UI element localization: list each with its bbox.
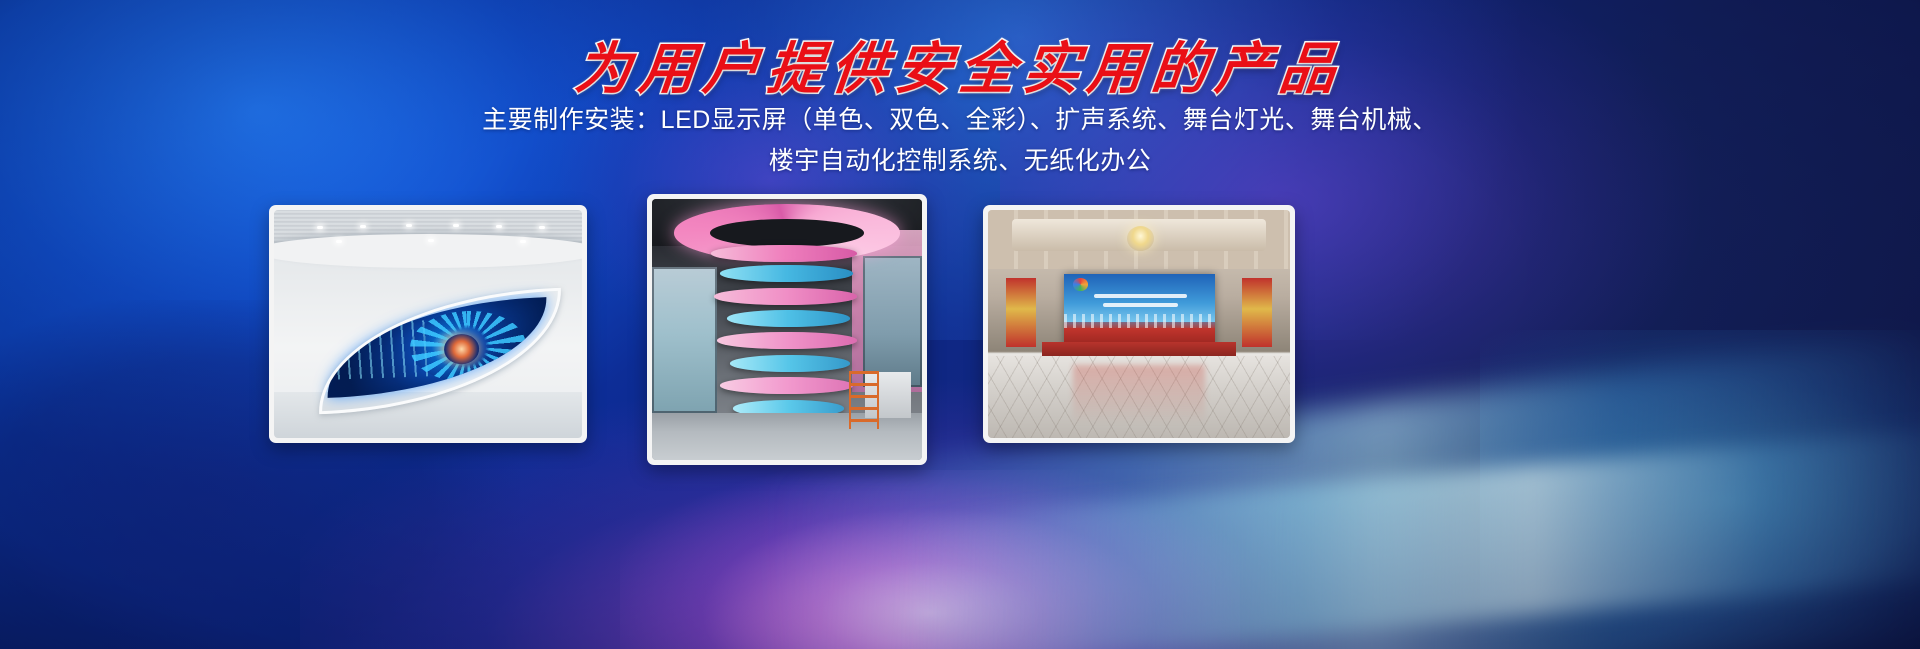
ceiling-light bbox=[428, 239, 434, 242]
subtitle-line-2: 楼宇自动化控制系统、无纸化办公 bbox=[0, 141, 1920, 182]
atrium-window-right bbox=[863, 256, 922, 387]
chandelier bbox=[1127, 226, 1154, 251]
side-led-panel-right bbox=[1242, 278, 1272, 346]
photo-spiral-ribbon-led-screen-atrium[interactable] bbox=[647, 194, 927, 465]
ceiling-light bbox=[539, 226, 545, 229]
ceiling-light bbox=[360, 225, 366, 228]
promo-banner: 为用户提供安全实用的产品 主要制作安装：LED显示屏（单色、双色、全彩）、扩声系… bbox=[0, 0, 1920, 649]
ceiling-light bbox=[496, 225, 502, 228]
spiral-band bbox=[730, 355, 851, 372]
photo-eye-shaped-led-screen-lobby[interactable] bbox=[269, 205, 587, 443]
banner-subtitle: 主要制作安装：LED显示屏（单色、双色、全彩）、扩声系统、舞台灯光、舞台机械、 … bbox=[0, 100, 1920, 182]
screen-text-line bbox=[1094, 294, 1188, 298]
spiral-band bbox=[720, 377, 853, 394]
main-led-stage-screen bbox=[1064, 274, 1215, 352]
ceiling-light bbox=[520, 240, 526, 243]
screen-company-logo bbox=[1073, 278, 1088, 290]
ceiling-light bbox=[317, 226, 323, 229]
photo-3-image bbox=[988, 210, 1290, 438]
atrium-floor bbox=[652, 413, 922, 460]
spiral-band bbox=[714, 288, 856, 305]
banner-headline: 为用户提供安全实用的产品 bbox=[572, 24, 1349, 105]
floor-reflection bbox=[1073, 365, 1206, 424]
spiral-band bbox=[717, 332, 856, 349]
ceiling-light bbox=[453, 224, 459, 227]
photo-1-image bbox=[274, 210, 582, 438]
headline-container: 为用户提供安全实用的产品 bbox=[0, 24, 1920, 105]
step-ladder bbox=[849, 371, 879, 429]
photo-2-image bbox=[652, 199, 922, 460]
spiral-band bbox=[727, 310, 851, 327]
atrium-window-left bbox=[652, 267, 717, 413]
ceiling-light bbox=[406, 224, 412, 227]
spiral-band bbox=[720, 265, 853, 282]
photo-banquet-hall-led-stage-screen[interactable] bbox=[983, 205, 1295, 443]
ceiling-light bbox=[336, 240, 342, 243]
subtitle-line-1: 主要制作安装：LED显示屏（单色、双色、全彩）、扩声系统、舞台灯光、舞台机械、 bbox=[0, 100, 1920, 141]
side-led-panel-left bbox=[1006, 278, 1036, 346]
spiral-band bbox=[711, 245, 856, 262]
screen-skyline-graphic bbox=[1064, 314, 1215, 328]
screen-text-line bbox=[1103, 303, 1179, 307]
